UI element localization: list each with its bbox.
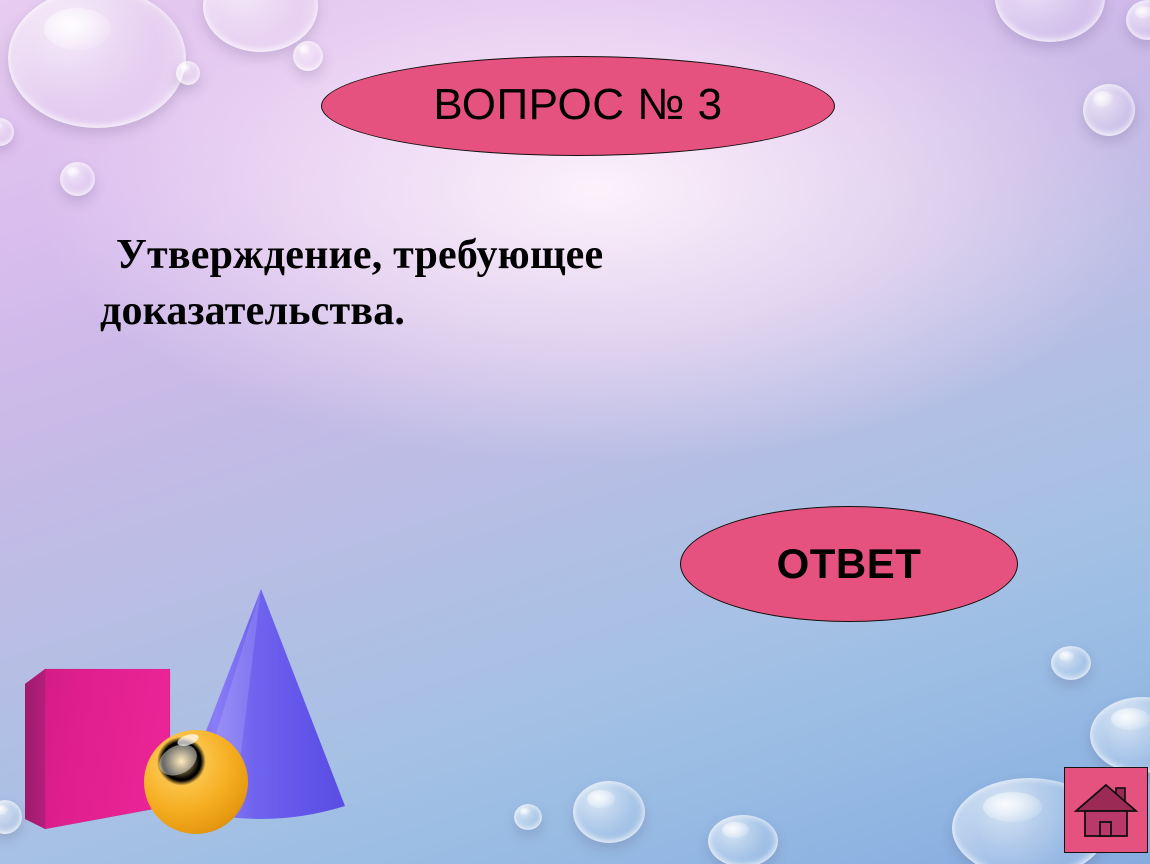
bubble-icon <box>0 800 22 834</box>
geometric-shapes-decoration <box>0 574 400 864</box>
question-text-line-1: Утверждение, требующее <box>100 228 800 284</box>
question-banner-label: ВОПРОС № 3 <box>433 83 722 127</box>
bubble-icon <box>1126 0 1150 40</box>
answer-button-label: ОТВЕТ <box>777 543 922 585</box>
sphere-shape <box>144 730 248 834</box>
bubble-icon <box>203 0 318 52</box>
cone-shape <box>177 589 345 819</box>
slide-canvas: ВОПРОС № 3 Утверждение, требующее доказа… <box>0 0 1150 864</box>
bubble-icon <box>60 162 95 196</box>
bubble-icon <box>1051 646 1091 680</box>
bubble-icon <box>514 804 542 830</box>
bubble-icon <box>708 815 778 864</box>
bubble-icon <box>1083 84 1135 136</box>
answer-button[interactable]: ОТВЕТ <box>680 506 1018 622</box>
bubble-icon <box>573 781 645 843</box>
bubble-icon <box>293 41 323 71</box>
question-banner[interactable]: ВОПРОС № 3 <box>321 56 835 156</box>
home-button[interactable] <box>1064 767 1148 853</box>
question-text: Утверждение, требующее доказательства. <box>100 228 800 340</box>
question-text-line-2: доказательства. <box>100 284 800 340</box>
bubble-icon <box>8 0 186 128</box>
home-icon <box>1074 780 1138 840</box>
cube-shape <box>25 669 170 829</box>
bubble-icon <box>995 0 1105 42</box>
bubble-icon <box>1090 697 1150 773</box>
bubble-icon <box>176 61 200 85</box>
bubble-icon <box>0 118 14 146</box>
